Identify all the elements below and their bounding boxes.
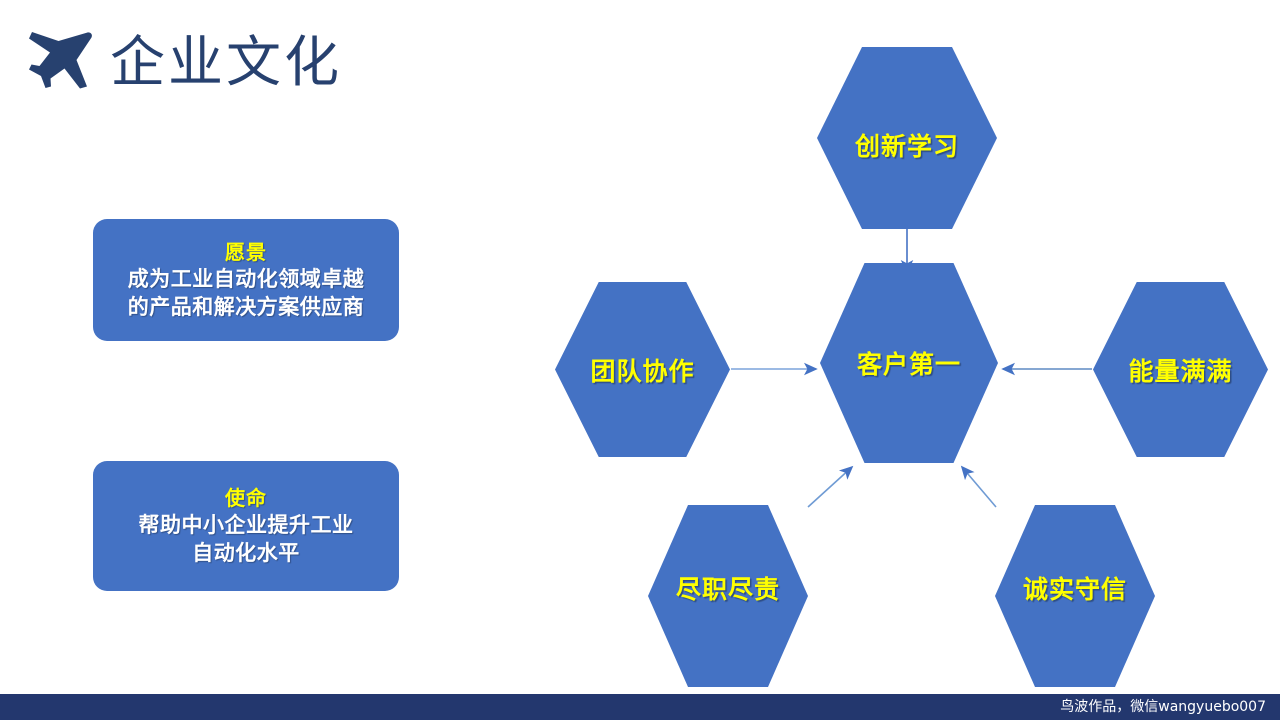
vision-card-line2: 的产品和解决方案供应商: [128, 293, 365, 321]
culture-hex-diagram: 创新学习 团队协作 客户第一 能量满满 尽职尽责 诚实守信: [520, 20, 1280, 700]
slide-canvas: 企业文化 愿景 成为工业自动化领域卓越 的产品和解决方案供应商 使命 帮助中小企…: [0, 0, 1280, 720]
hex-node-teamwork-label: 团队协作: [590, 352, 694, 388]
mission-card[interactable]: 使命 帮助中小企业提升工业 自动化水平: [93, 461, 399, 591]
hex-node-innovation-label: 创新学习: [855, 127, 959, 163]
vision-card-heading: 愿景: [225, 239, 267, 265]
mission-card-line1: 帮助中小企业提升工业: [139, 511, 354, 539]
hex-node-innovation[interactable]: 创新学习: [817, 47, 997, 229]
mission-card-line2: 自动化水平: [192, 539, 300, 567]
hex-node-energy[interactable]: 能量满满: [1093, 282, 1268, 457]
page-title: 企业文化: [110, 26, 342, 98]
mission-card-heading: 使命: [225, 485, 267, 511]
footer-credit: 鸟波作品，微信wangyuebo007: [1060, 698, 1266, 716]
vision-card[interactable]: 愿景 成为工业自动化领域卓越 的产品和解决方案供应商: [93, 219, 399, 341]
airplane-icon: [24, 30, 98, 92]
hex-node-integrity-label: 诚实守信: [1023, 570, 1127, 606]
hex-node-teamwork[interactable]: 团队协作: [555, 282, 730, 457]
vision-card-line1: 成为工业自动化领域卓越: [128, 265, 365, 293]
hex-node-integrity[interactable]: 诚实守信: [995, 505, 1155, 687]
hex-node-responsibility-label: 尽职尽责: [676, 570, 780, 606]
hex-nodes-layer: 创新学习 团队协作 客户第一 能量满满 尽职尽责 诚实守信: [520, 20, 1280, 700]
footer-bar: 鸟波作品，微信wangyuebo007: [0, 694, 1280, 720]
hex-node-customer-first[interactable]: 客户第一: [820, 263, 998, 463]
hex-node-energy-label: 能量满满: [1128, 352, 1232, 388]
hex-node-responsibility[interactable]: 尽职尽责: [648, 505, 808, 687]
hex-node-customer-first-label: 客户第一: [857, 345, 961, 381]
